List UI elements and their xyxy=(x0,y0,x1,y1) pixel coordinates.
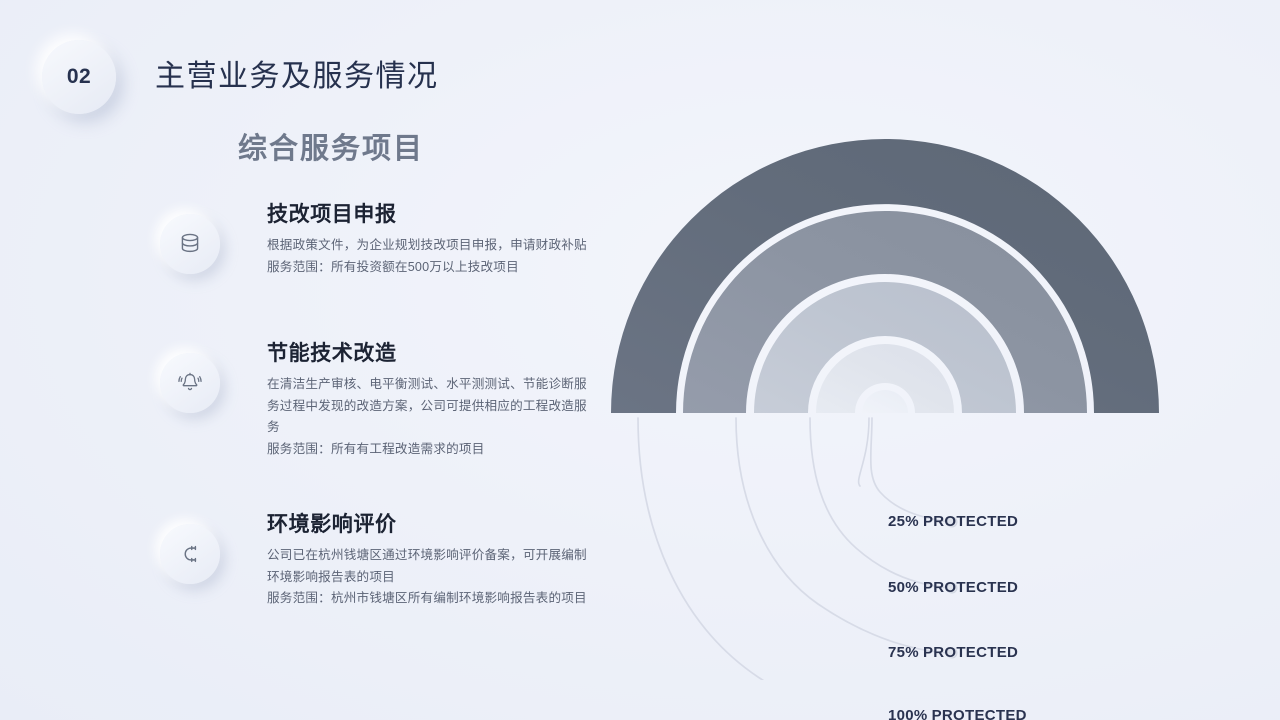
legend-percent-25: 25% xyxy=(888,513,919,530)
service-item-scope: 服务范围：所有投资额在500万以上技改项目 xyxy=(267,257,597,279)
legend-percent-75: 75% xyxy=(888,644,919,661)
connector-lines xyxy=(638,418,950,680)
magnet-icon xyxy=(160,524,220,584)
connector-line-100b xyxy=(638,418,950,680)
service-item-scope: 服务范围：杭州市钱塘区所有编制环境影响报告表的项目 xyxy=(267,588,597,610)
legend-label-50[interactable]: 50%PROTECTED xyxy=(888,579,1018,596)
legend-percent-100: 100% xyxy=(888,707,928,720)
arc-chart-svg xyxy=(590,120,1280,680)
legend-suffix-25: PROTECTED xyxy=(923,513,1018,530)
legend-label-100[interactable]: 100%PROTECTED xyxy=(888,707,1027,720)
service-item-energy-saving[interactable]: 节能技术改造 在清洁生产审核、电平衡测试、水平测测试、节能诊断服务过程中发现的改… xyxy=(160,337,597,461)
legend-suffix-100: PROTECTED xyxy=(932,707,1027,720)
service-item-body: 技改项目申报 根据政策文件，为企业规划技改项目申报，申请财政补贴 服务范围：所有… xyxy=(267,198,597,278)
service-list: 技改项目申报 根据政策文件，为企业规划技改项目申报，申请财政补贴 服务范围：所有… xyxy=(0,0,620,720)
service-item-body: 节能技术改造 在清洁生产审核、电平衡测试、水平测测试、节能诊断服务过程中发现的改… xyxy=(267,337,597,461)
service-item-scope: 服务范围：所有有工程改造需求的项目 xyxy=(267,439,597,461)
protection-arc-chart: 25%PROTECTED 50%PROTECTED 75%PROTECTED 1… xyxy=(590,120,1280,680)
service-item-title: 技改项目申报 xyxy=(267,198,597,228)
service-item-title: 节能技术改造 xyxy=(267,337,597,367)
legend-suffix-75: PROTECTED xyxy=(923,644,1018,661)
legend-label-75[interactable]: 75%PROTECTED xyxy=(888,644,1018,661)
legend-percent-50: 50% xyxy=(888,579,919,596)
legend-label-25[interactable]: 25%PROTECTED xyxy=(888,513,1018,530)
connector-line-100 xyxy=(859,418,869,486)
arc-core xyxy=(862,390,908,413)
service-item-description: 公司已在杭州钱塘区通过环境影响评价备案，可开展编制环境影响报告表的项目 xyxy=(267,545,597,588)
service-item-title: 环境影响评价 xyxy=(267,508,597,538)
database-icon xyxy=(160,214,220,274)
service-item-environmental-assessment[interactable]: 环境影响评价 公司已在杭州钱塘区通过环境影响评价备案，可开展编制环境影响报告表的… xyxy=(160,508,597,610)
service-item-technical-upgrade[interactable]: 技改项目申报 根据政策文件，为企业规划技改项目申报，申请财政补贴 服务范围：所有… xyxy=(160,198,597,278)
service-item-description: 在清洁生产审核、电平衡测试、水平测测试、节能诊断服务过程中发现的改造方案，公司可… xyxy=(267,374,597,439)
connector-line-25 xyxy=(871,418,950,522)
service-item-description: 根据政策文件，为企业规划技改项目申报，申请财政补贴 xyxy=(267,235,597,257)
bell-ringing-icon xyxy=(160,353,220,413)
legend-suffix-50: PROTECTED xyxy=(923,579,1018,596)
service-item-body: 环境影响评价 公司已在杭州钱塘区通过环境影响评价备案，可开展编制环境影响报告表的… xyxy=(267,508,597,610)
connector-line-50 xyxy=(810,418,950,588)
